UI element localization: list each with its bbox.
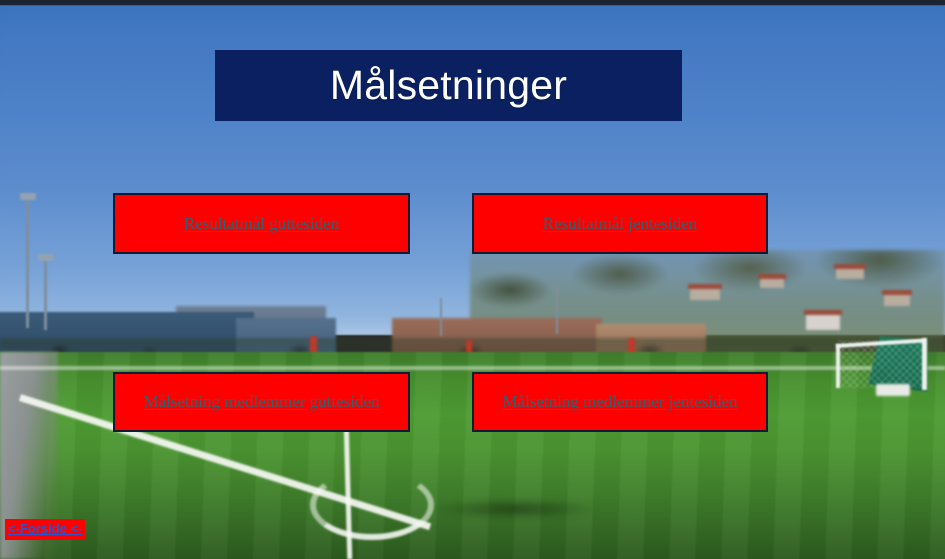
back-link-label[interactable]: <-Forside <- [8,521,82,536]
link-button-label[interactable]: Resultatmål jentesiden [543,214,697,234]
grass-shadow [430,498,600,520]
goal-post [836,344,840,388]
slide-canvas: Målsetninger Resultatmål guttesiden Resu… [0,0,945,559]
floodlight-mast [556,286,558,334]
hillside-house [806,314,840,330]
page-title: Målsetninger [330,65,567,106]
floodlight-head [38,254,54,261]
floodlight-mast [26,198,29,328]
floodlight-mast [440,298,442,336]
hillside-house [884,294,910,306]
link-button-label[interactable]: Målsetning medlemmer jentesiden [502,392,737,412]
link-button-resultatmal-guttesiden[interactable]: Resultatmål guttesiden [113,193,410,254]
pitch-circle-arc [310,470,434,540]
link-button-malsetning-medlemmer-guttesiden[interactable]: Målsetning medlemmer guttesiden [113,372,410,432]
floodlight-mast [44,258,47,330]
hillside-house [760,278,784,288]
top-border-strip [0,0,945,5]
link-button-malsetning-medlemmer-jentesiden[interactable]: Målsetning medlemmer jentesiden [472,372,768,432]
page-title-box: Målsetninger [215,50,682,121]
link-button-label[interactable]: Målsetning medlemmer guttesiden [143,392,379,412]
goal-post [922,338,927,390]
link-button-resultatmal-jentesiden[interactable]: Resultatmål jentesiden [472,193,768,254]
goal-net [838,340,926,388]
link-button-label[interactable]: Resultatmål guttesiden [184,214,339,234]
hillside-house [690,288,720,300]
pitch-touchline [0,366,945,370]
floodlight-head [20,193,36,200]
back-to-frontpage-link[interactable]: <-Forside <- [5,519,85,540]
hillside-house [836,268,864,279]
kit-bag [876,384,910,396]
